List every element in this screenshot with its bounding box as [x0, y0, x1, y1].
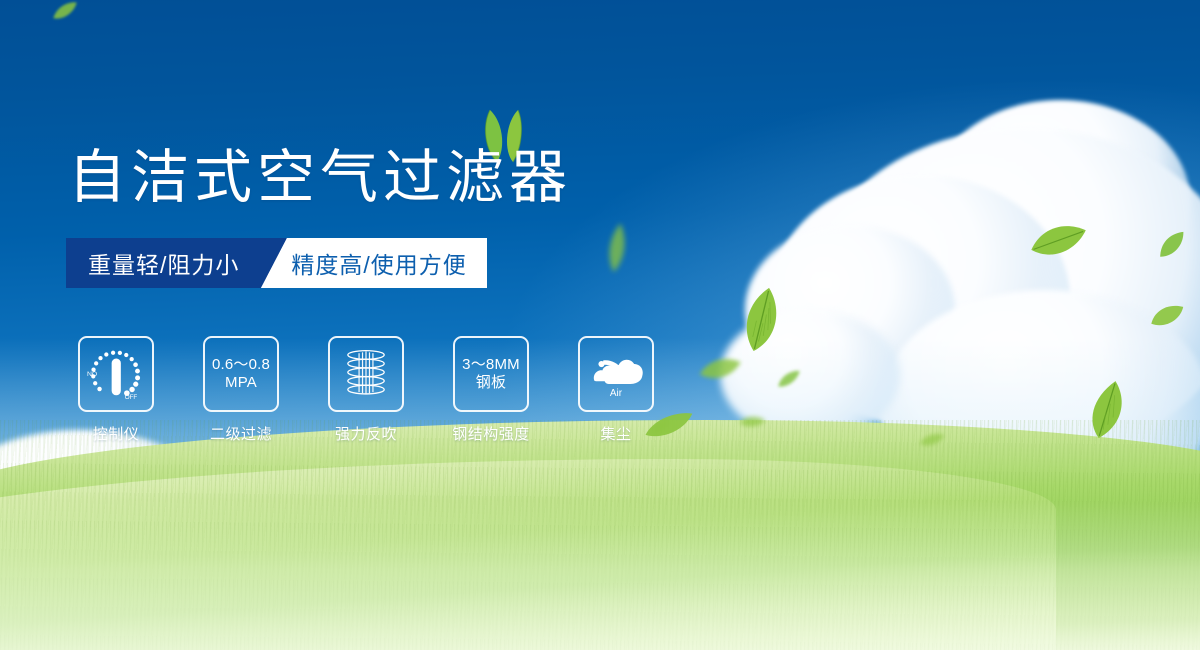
grass-field — [0, 420, 1200, 650]
steel-material: 钢板 — [476, 374, 506, 392]
floating-leaf-icon — [775, 368, 803, 389]
subtitle-left: 重量轻/阻力小 — [66, 238, 261, 288]
floating-leaf-icon — [52, 0, 78, 22]
feature-label: 钢结构强度 — [452, 423, 530, 444]
dial-on-label: NO — [87, 371, 97, 378]
air-cloud-icon: Air — [587, 349, 645, 399]
subtitle-divider — [261, 238, 287, 288]
feature-label: 控制仪 — [93, 423, 140, 444]
pressure-value: 0.6～0.8 — [212, 356, 270, 374]
filter-cartridge-icon — [340, 346, 392, 402]
dial-off-label: OFF — [125, 394, 138, 401]
feature-item[interactable]: Air 集尘 — [578, 336, 654, 444]
feature-label: 二级过滤 — [210, 423, 272, 444]
feature-item[interactable]: NO OFF 控制仪 — [78, 336, 154, 444]
feature-icon-box: 3～8MM 钢板 — [453, 336, 529, 412]
feature-icon-box: Air — [578, 336, 654, 412]
feature-icon-box: NO OFF — [78, 336, 154, 412]
feature-label: 强力反吹 — [335, 423, 397, 444]
feature-list: NO OFF 控制仪 0.6～0.8 MPA 二级过滤 — [78, 336, 654, 444]
grass-highlight — [0, 500, 1200, 650]
subtitle-right: 精度高/使用方便 — [287, 238, 486, 288]
product-banner: 自洁式空气过滤器 重量轻/阻力小 精度高/使用方便 — [0, 0, 1200, 650]
feature-icon-box: 0.6～0.8 MPA — [203, 336, 279, 412]
air-label: Air — [610, 388, 623, 399]
feature-icon-box — [328, 336, 404, 412]
page-title: 自洁式空气过滤器 — [68, 148, 572, 209]
feature-label: 集尘 — [600, 423, 631, 444]
control-dial-icon: NO OFF — [82, 344, 150, 404]
feature-item[interactable]: 0.6～0.8 MPA 二级过滤 — [203, 336, 279, 444]
pressure-unit: MPA — [225, 374, 257, 392]
feature-item[interactable]: 强力反吹 — [328, 336, 404, 444]
subtitle-bar: 重量轻/阻力小 精度高/使用方便 — [66, 238, 487, 288]
feature-item[interactable]: 3～8MM 钢板 钢结构强度 — [453, 336, 529, 444]
steel-thickness: 3～8MM — [462, 356, 520, 374]
